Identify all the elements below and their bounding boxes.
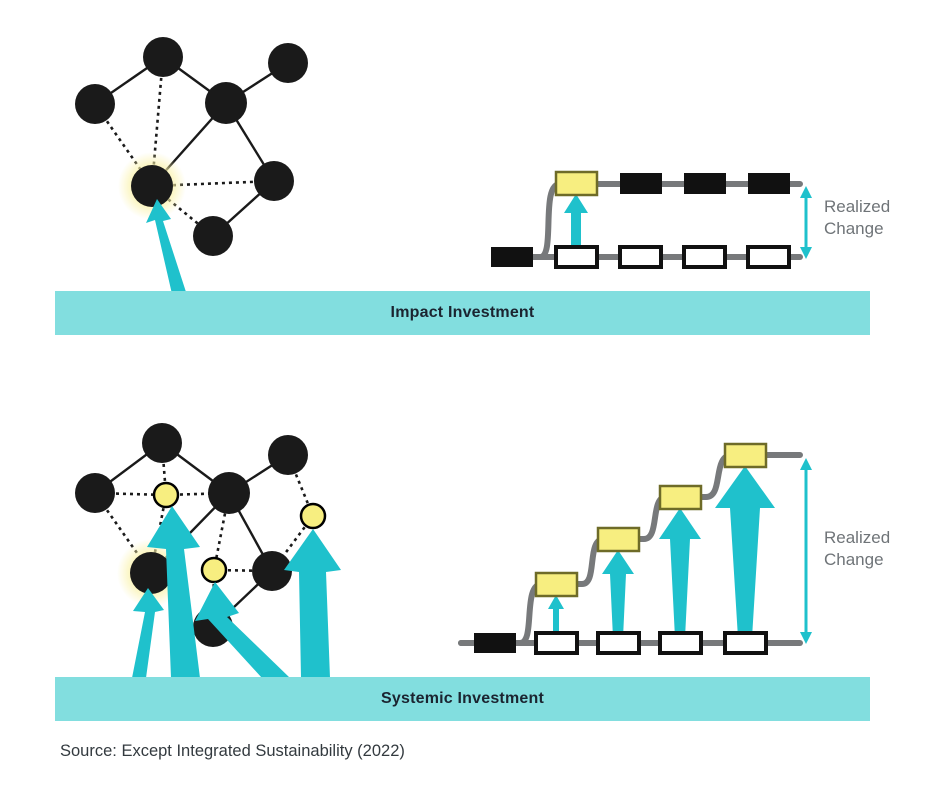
realized-change-label: Realized Change bbox=[824, 527, 890, 572]
network-node[interactable] bbox=[205, 82, 247, 124]
upper-box-filled[interactable] bbox=[748, 173, 790, 194]
impact-network bbox=[75, 37, 308, 294]
step-box-yellow[interactable] bbox=[536, 573, 577, 596]
diagram-canvas: Realized Change Realized Change Impact I… bbox=[0, 0, 940, 788]
impact-steps bbox=[491, 172, 812, 267]
banner-impact-investment: Impact Investment bbox=[55, 291, 870, 335]
realized-change-line2: Change bbox=[824, 549, 890, 571]
realized-change-line1: Realized bbox=[824, 196, 890, 218]
baseline-box-filled[interactable] bbox=[491, 247, 533, 267]
network-node[interactable] bbox=[193, 216, 233, 256]
baseline-box-filled[interactable] bbox=[474, 633, 516, 653]
realized-change-measure bbox=[800, 186, 812, 259]
step-box-yellow[interactable] bbox=[598, 528, 639, 551]
step-arrow bbox=[564, 194, 588, 252]
network-node[interactable] bbox=[143, 37, 183, 77]
baseline-box-empty[interactable] bbox=[748, 247, 789, 267]
baseline-box-empty[interactable] bbox=[556, 247, 597, 267]
baseline-box-empty[interactable] bbox=[660, 633, 701, 653]
step-arrow bbox=[715, 466, 775, 638]
network-node-highlighted[interactable] bbox=[131, 165, 173, 207]
step-box-yellow[interactable] bbox=[660, 486, 701, 509]
banner-systemic-label: Systemic Investment bbox=[381, 690, 544, 708]
baseline-box-empty[interactable] bbox=[536, 633, 577, 653]
realized-change-measure bbox=[800, 458, 812, 644]
baseline-box-empty[interactable] bbox=[620, 247, 661, 267]
systemic-network bbox=[75, 423, 341, 678]
baseline-box-empty[interactable] bbox=[684, 247, 725, 267]
network-node-highlighted[interactable] bbox=[130, 552, 172, 594]
banner-systemic-investment: Systemic Investment bbox=[55, 677, 870, 721]
network-node[interactable] bbox=[208, 472, 250, 514]
network-node-yellow[interactable] bbox=[154, 483, 178, 507]
baseline-box-empty[interactable] bbox=[725, 633, 766, 653]
network-node[interactable] bbox=[254, 161, 294, 201]
diagram-svg bbox=[0, 0, 940, 788]
baseline-box-empty[interactable] bbox=[598, 633, 639, 653]
step-arrow bbox=[602, 550, 634, 638]
network-node[interactable] bbox=[142, 423, 182, 463]
impact-network-edges bbox=[95, 57, 288, 236]
systemic-steps bbox=[461, 444, 812, 653]
investment-arrow bbox=[146, 199, 186, 294]
network-node-yellow[interactable] bbox=[202, 558, 226, 582]
realized-change-line2: Change bbox=[824, 218, 890, 240]
upper-box-filled[interactable] bbox=[684, 173, 726, 194]
network-node[interactable] bbox=[75, 84, 115, 124]
step-arrow bbox=[659, 508, 701, 638]
source-note: Source: Except Integrated Sustainability… bbox=[60, 742, 405, 761]
realized-change-line1: Realized bbox=[824, 527, 890, 549]
network-node[interactable] bbox=[252, 551, 292, 591]
upper-box-filled[interactable] bbox=[620, 173, 662, 194]
realized-change-label: Realized Change bbox=[824, 196, 890, 241]
network-node[interactable] bbox=[268, 435, 308, 475]
step-box-yellow[interactable] bbox=[725, 444, 766, 467]
upper-box-yellow[interactable] bbox=[556, 172, 597, 195]
banner-impact-label: Impact Investment bbox=[391, 304, 535, 322]
impact-network-nodes bbox=[75, 37, 308, 256]
network-node[interactable] bbox=[75, 473, 115, 513]
network-node-yellow[interactable] bbox=[301, 504, 325, 528]
network-node[interactable] bbox=[268, 43, 308, 83]
investment-arrow bbox=[284, 529, 341, 678]
